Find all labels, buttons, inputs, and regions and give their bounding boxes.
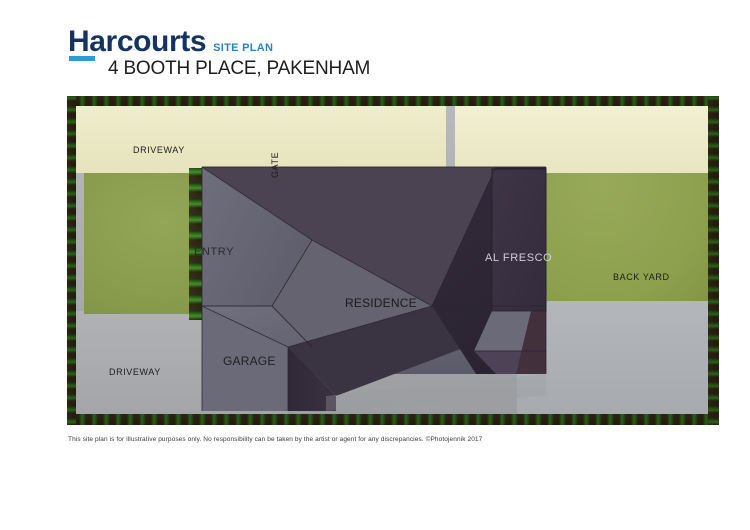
label-entry: ENTRY xyxy=(194,246,234,258)
site-plan-image: DRIVEWAY GATE ENTRY RESIDENCE GARAGE AL … xyxy=(67,96,719,425)
harcourts-logo-text: Harcourts xyxy=(68,27,206,57)
boundary-hedge-left xyxy=(67,96,76,425)
disclaimer-text: This site plan is for illustrative purpo… xyxy=(68,436,482,443)
brand-row: Harcourts SITE PLAN xyxy=(68,27,273,57)
site-plan-canvas: DRIVEWAY GATE ENTRY RESIDENCE GARAGE AL … xyxy=(76,106,708,414)
site-plan-kicker: SITE PLAN xyxy=(213,42,273,54)
label-garage: GARAGE xyxy=(223,354,276,368)
boundary-hedge-bottom xyxy=(67,414,719,425)
page-header: Harcourts SITE PLAN 4 BOOTH PLACE, PAKEN… xyxy=(0,0,750,92)
brand-accent-bar xyxy=(69,56,95,61)
label-back-yard: BACK YARD xyxy=(613,272,670,282)
label-al-fresco: AL FRESCO xyxy=(485,252,552,264)
page-title: 4 BOOTH PLACE, PAKENHAM xyxy=(108,58,370,80)
label-residence: RESIDENCE xyxy=(345,296,417,310)
boundary-hedge-right xyxy=(708,96,719,425)
label-gate: GATE xyxy=(270,152,280,178)
site-plan-labels: DRIVEWAY GATE ENTRY RESIDENCE GARAGE AL … xyxy=(76,106,708,414)
label-driveway-top: DRIVEWAY xyxy=(133,145,185,155)
boundary-hedge-top xyxy=(67,96,719,106)
label-driveway-lower: DRIVEWAY xyxy=(109,367,161,377)
